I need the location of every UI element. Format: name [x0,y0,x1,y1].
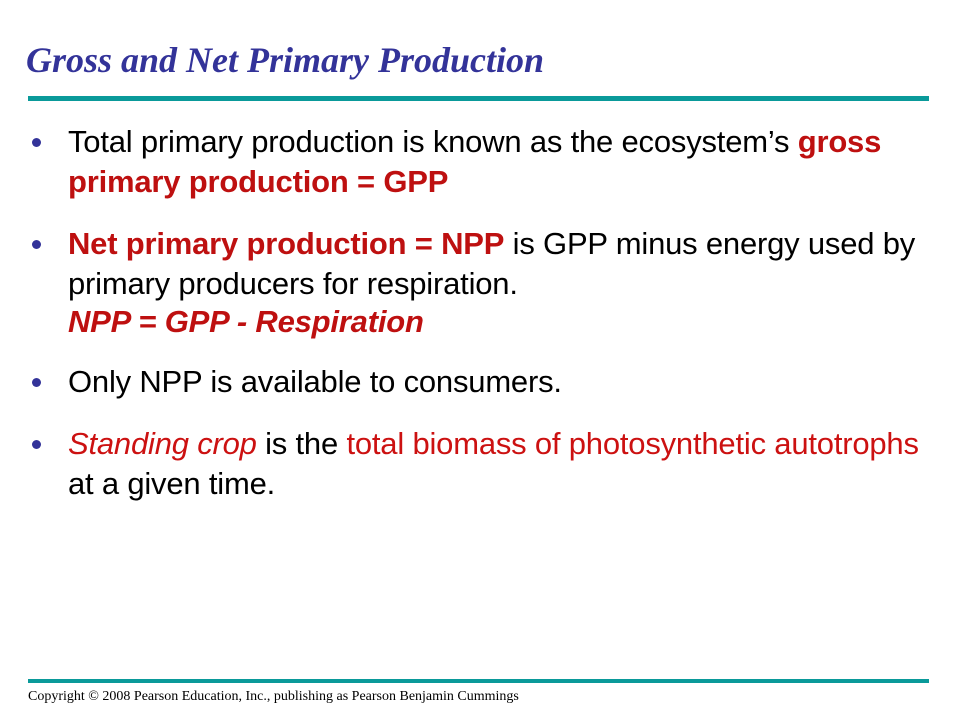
text-run-plain: Total primary production is known as the… [68,124,798,159]
text-run-emphasis-npp: Net primary production = NPP [68,226,504,261]
text-run-plain: Only NPP is available to consumers. [68,364,562,399]
list-item: Standing crop is the total biomass of ph… [24,424,940,504]
list-item: Net primary production = NPP is GPP minu… [24,224,940,342]
list-item-text: Total primary production is known as the… [68,122,940,202]
text-run-plain-tail: at a given time. [68,466,275,501]
list-item: Only NPP is available to consumers. [24,362,940,402]
npp-equation: NPP = GPP - Respiration [68,302,940,342]
bullet-dot-icon [32,440,41,449]
bullet-dot-icon [32,240,41,249]
text-run-emphasis-standing-crop: Standing crop [68,426,257,461]
bullet-dot-icon [32,138,41,147]
list-item-text: Only NPP is available to consumers. [68,362,940,402]
list-item: Total primary production is known as the… [24,122,940,202]
list-item-text: Net primary production = NPP is GPP minu… [68,224,940,342]
slide-canvas: Gross and Net Primary Production Total p… [0,0,960,720]
text-run-plain: is the [257,426,347,461]
bullet-dot-icon [32,378,41,387]
page-title: Gross and Net Primary Production [26,38,926,82]
list-item-text: Standing crop is the total biomass of ph… [68,424,940,504]
header-divider-rule [28,96,929,101]
footer-divider-rule [28,679,929,683]
text-run-emphasis-biomass: total biomass of photosynthetic autotrop… [346,426,918,461]
bullet-list: Total primary production is known as the… [24,122,940,522]
copyright-notice: Copyright © 2008 Pearson Education, Inc.… [28,688,519,706]
